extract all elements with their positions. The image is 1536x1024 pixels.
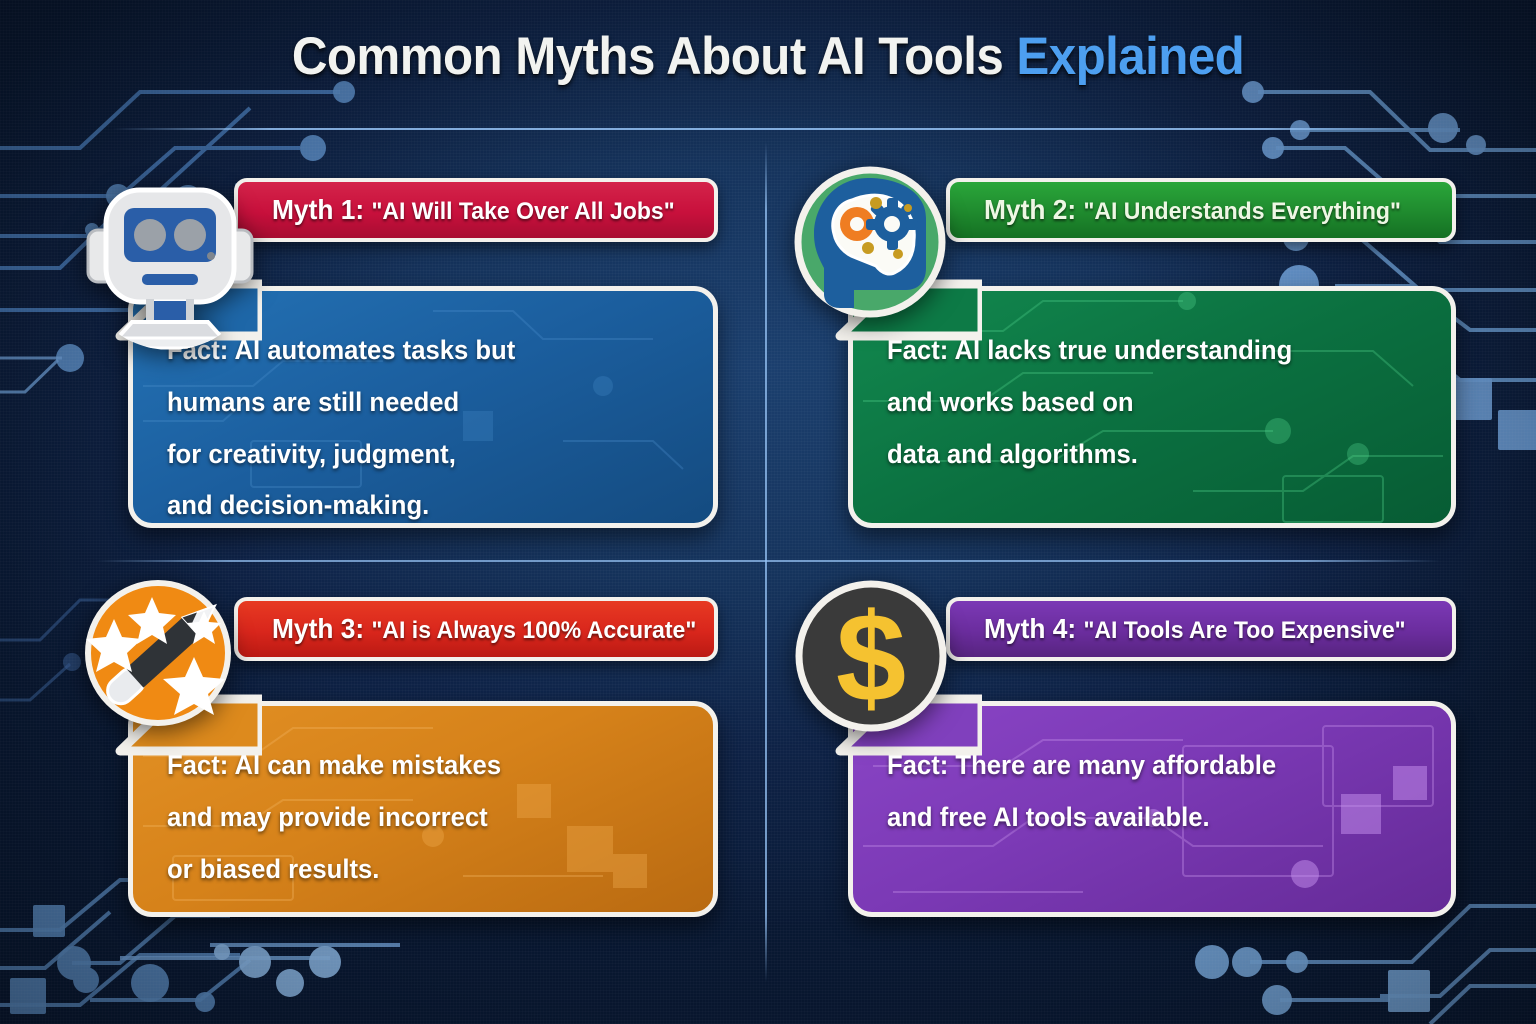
fact-line: and decision-making. (167, 480, 661, 528)
vertical-divider (765, 142, 767, 982)
myth-quote: "AI Tools Are Too Expensive" (1083, 617, 1405, 644)
myth-quote: "AI Understands Everything" (1083, 198, 1400, 225)
fact-line: and works based on (887, 377, 1398, 429)
fact-line: humans are still needed (167, 377, 661, 429)
myth-label: Myth 1 (272, 194, 355, 225)
page-title-main: Common Myths About AI Tools (292, 27, 1017, 86)
myth-label: Myth 2 (984, 194, 1067, 225)
fact-line: and may provide incorrect (167, 792, 661, 844)
myth-card-4[interactable]: Fact: There are many affordable and free… (848, 597, 1456, 917)
myth-card-2[interactable]: Fact: AI lacks true understanding and wo… (848, 178, 1456, 528)
page-title: Common Myths About AI Tools Explained (0, 26, 1536, 87)
myth-card-1[interactable]: Fact: AI automates tasks but humans are … (128, 178, 718, 528)
myth-card-3-header[interactable]: Myth 3: "AI is Always 100% Accurate" (234, 597, 718, 661)
myth-quote: "AI is Always 100% Accurate" (371, 617, 696, 644)
myth-label: Myth 4 (984, 613, 1067, 644)
myth-card-3[interactable]: Fact: AI can make mistakes and may provi… (128, 597, 718, 917)
brain-head-icon (790, 162, 950, 322)
fact-line: for creativity, judgment, (167, 429, 661, 481)
myth-quote: "AI Will Take Over All Jobs" (371, 198, 674, 225)
myth-card-2-header[interactable]: Myth 2: "AI Understands Everything" (946, 178, 1456, 242)
fact-line: data and algorithms. (887, 429, 1398, 481)
magic-wand-icon (66, 575, 246, 745)
robot-icon (80, 170, 260, 350)
infographic-canvas: Common Myths About AI Tools Explained (0, 0, 1536, 1024)
myth-card-4-header[interactable]: Myth 4: "AI Tools Are Too Expensive" (946, 597, 1456, 661)
page-title-highlight: Explained (1016, 27, 1244, 86)
fact-line: or biased results. (167, 844, 661, 896)
dollar-coin-icon: $ (790, 575, 952, 737)
fact-line: and free AI tools available. (887, 792, 1398, 844)
horizontal-divider (96, 560, 1440, 562)
title-divider-rule (112, 128, 1424, 130)
svg-text:$: $ (836, 587, 906, 728)
myth-card-1-header[interactable]: Myth 1: "AI Will Take Over All Jobs" (234, 178, 718, 242)
myth-label: Myth 3 (272, 613, 355, 644)
